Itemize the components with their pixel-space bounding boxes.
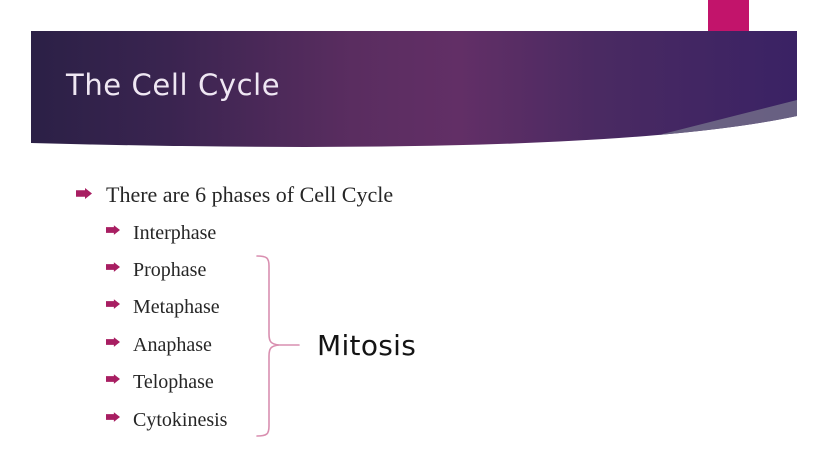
list-item-metaphase: Metaphase <box>106 296 220 319</box>
list-item-interphase: Interphase <box>106 222 216 245</box>
list-item-label: Metaphase <box>133 296 220 319</box>
triangle-right-bullet-icon <box>106 262 122 273</box>
triangle-right-bullet-icon <box>106 299 122 310</box>
presentation-slide: The Cell Cycle There are 6 phases of Cel… <box>0 0 828 466</box>
banner-shadow-wedge <box>560 100 797 160</box>
list-item-label: Prophase <box>133 259 206 282</box>
list-item-telophase: Telophase <box>106 371 214 394</box>
list-item-anaphase: Anaphase <box>106 334 212 357</box>
list-item-label: Cytokinesis <box>133 409 227 432</box>
group-callout-label: Mitosis <box>317 329 416 362</box>
list-item-label: Interphase <box>133 222 216 245</box>
accent-tab-shape <box>708 0 749 79</box>
list-item-intro: There are 6 phases of Cell Cycle <box>76 182 393 208</box>
list-item-label: There are 6 phases of Cell Cycle <box>106 182 393 208</box>
list-item-prophase: Prophase <box>106 259 206 282</box>
triangle-right-bullet-icon <box>106 374 122 385</box>
list-item-label: Telophase <box>133 371 214 394</box>
triangle-right-bullet-icon <box>76 188 92 199</box>
slide-body: There are 6 phases of Cell Cycle Interph… <box>0 160 828 466</box>
list-item-cytokinesis: Cytokinesis <box>106 409 227 432</box>
triangle-right-bullet-icon <box>106 225 122 236</box>
triangle-right-bullet-icon <box>106 412 122 423</box>
page-title: The Cell Cycle <box>66 68 280 102</box>
list-item-label: Anaphase <box>133 334 212 357</box>
triangle-right-bullet-icon <box>106 337 122 348</box>
